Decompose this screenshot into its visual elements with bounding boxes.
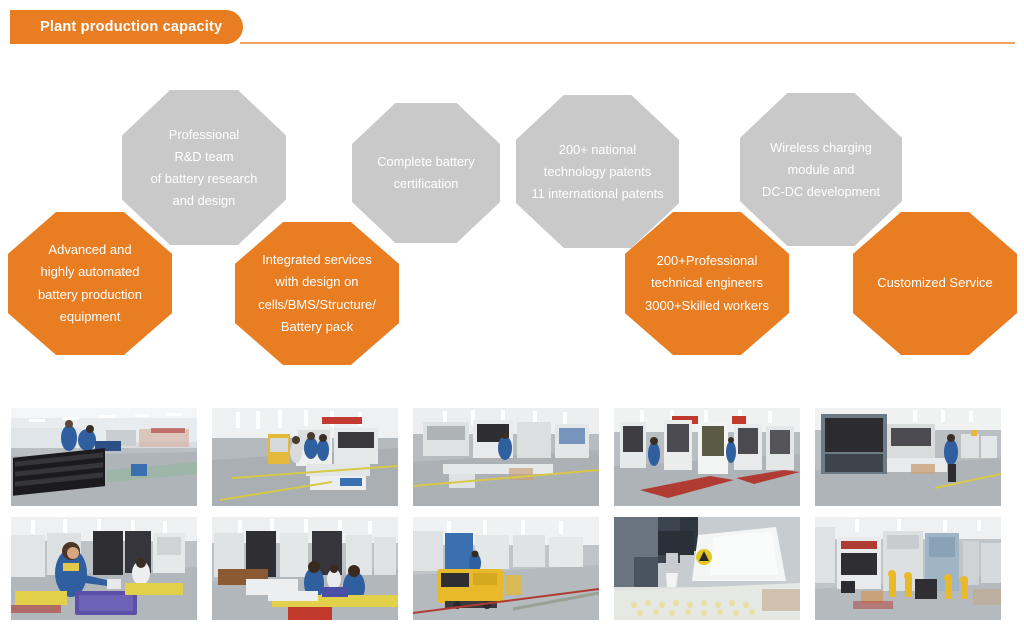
octagon-integrated-services-label: Integrated services with design on cells… [252,249,382,338]
photo-row [11,408,1001,506]
photo-automated-workstations[interactable] [413,408,599,506]
photo-image [11,408,197,506]
octagon-rd-team-label: Professional R&D team of battery researc… [145,124,264,212]
photo-worker-packing-blue-crate[interactable] [11,517,197,620]
photo-battery-trays-assembly-line[interactable] [11,408,197,506]
photo-gantry-dispensing-robot[interactable] [614,517,800,620]
photo-image [815,517,1001,620]
photo-image [413,408,599,506]
octagon-rd-team[interactable]: Professional R&D team of battery researc… [122,90,286,245]
photo-production-hall-machines[interactable] [212,408,398,506]
photo-test-cabinets-equipment[interactable] [815,517,1001,620]
factory-photo-grid [11,408,1001,622]
photo-row [11,517,1001,620]
photo-agv-yellow-vehicle[interactable] [413,517,599,620]
octagon-production-equipment-label: Advanced and highly automated battery pr… [32,239,148,328]
octagon-patents-label: 200+ national technology patents 11 inte… [525,139,669,205]
octagon-integrated-services[interactable]: Integrated services with design on cells… [235,222,399,365]
octagon-patents[interactable]: 200+ national technology patents 11 inte… [516,95,679,248]
photo-image [212,517,398,620]
photo-robotic-pick-place[interactable] [815,408,1001,506]
photo-image [614,408,800,506]
octagon-customized-service[interactable]: Customized Service [853,212,1017,355]
photo-image [413,517,599,620]
octagon-wireless-charging[interactable]: Wireless charging module and DC-DC devel… [740,93,902,246]
photo-image [614,517,800,620]
octagon-battery-certification-label: Complete battery certification [371,151,480,195]
photo-conveyor-workers[interactable] [212,517,398,620]
octagon-engineers-workers-label: 200+Professional technical engineers 300… [639,250,775,317]
capability-octagon-diagram: Professional R&D team of battery researc… [0,0,1024,390]
photo-cell-line-red-mats[interactable] [614,408,800,506]
octagon-engineers-workers[interactable]: 200+Professional technical engineers 300… [625,212,789,355]
octagon-battery-certification[interactable]: Complete battery certification [352,103,500,243]
photo-image [212,408,398,506]
octagon-wireless-charging-label: Wireless charging module and DC-DC devel… [756,137,886,203]
octagon-production-equipment[interactable]: Advanced and highly automated battery pr… [8,212,172,355]
photo-image [11,517,197,620]
photo-image [815,408,1001,506]
octagon-customized-service-label: Customized Service [871,272,999,294]
